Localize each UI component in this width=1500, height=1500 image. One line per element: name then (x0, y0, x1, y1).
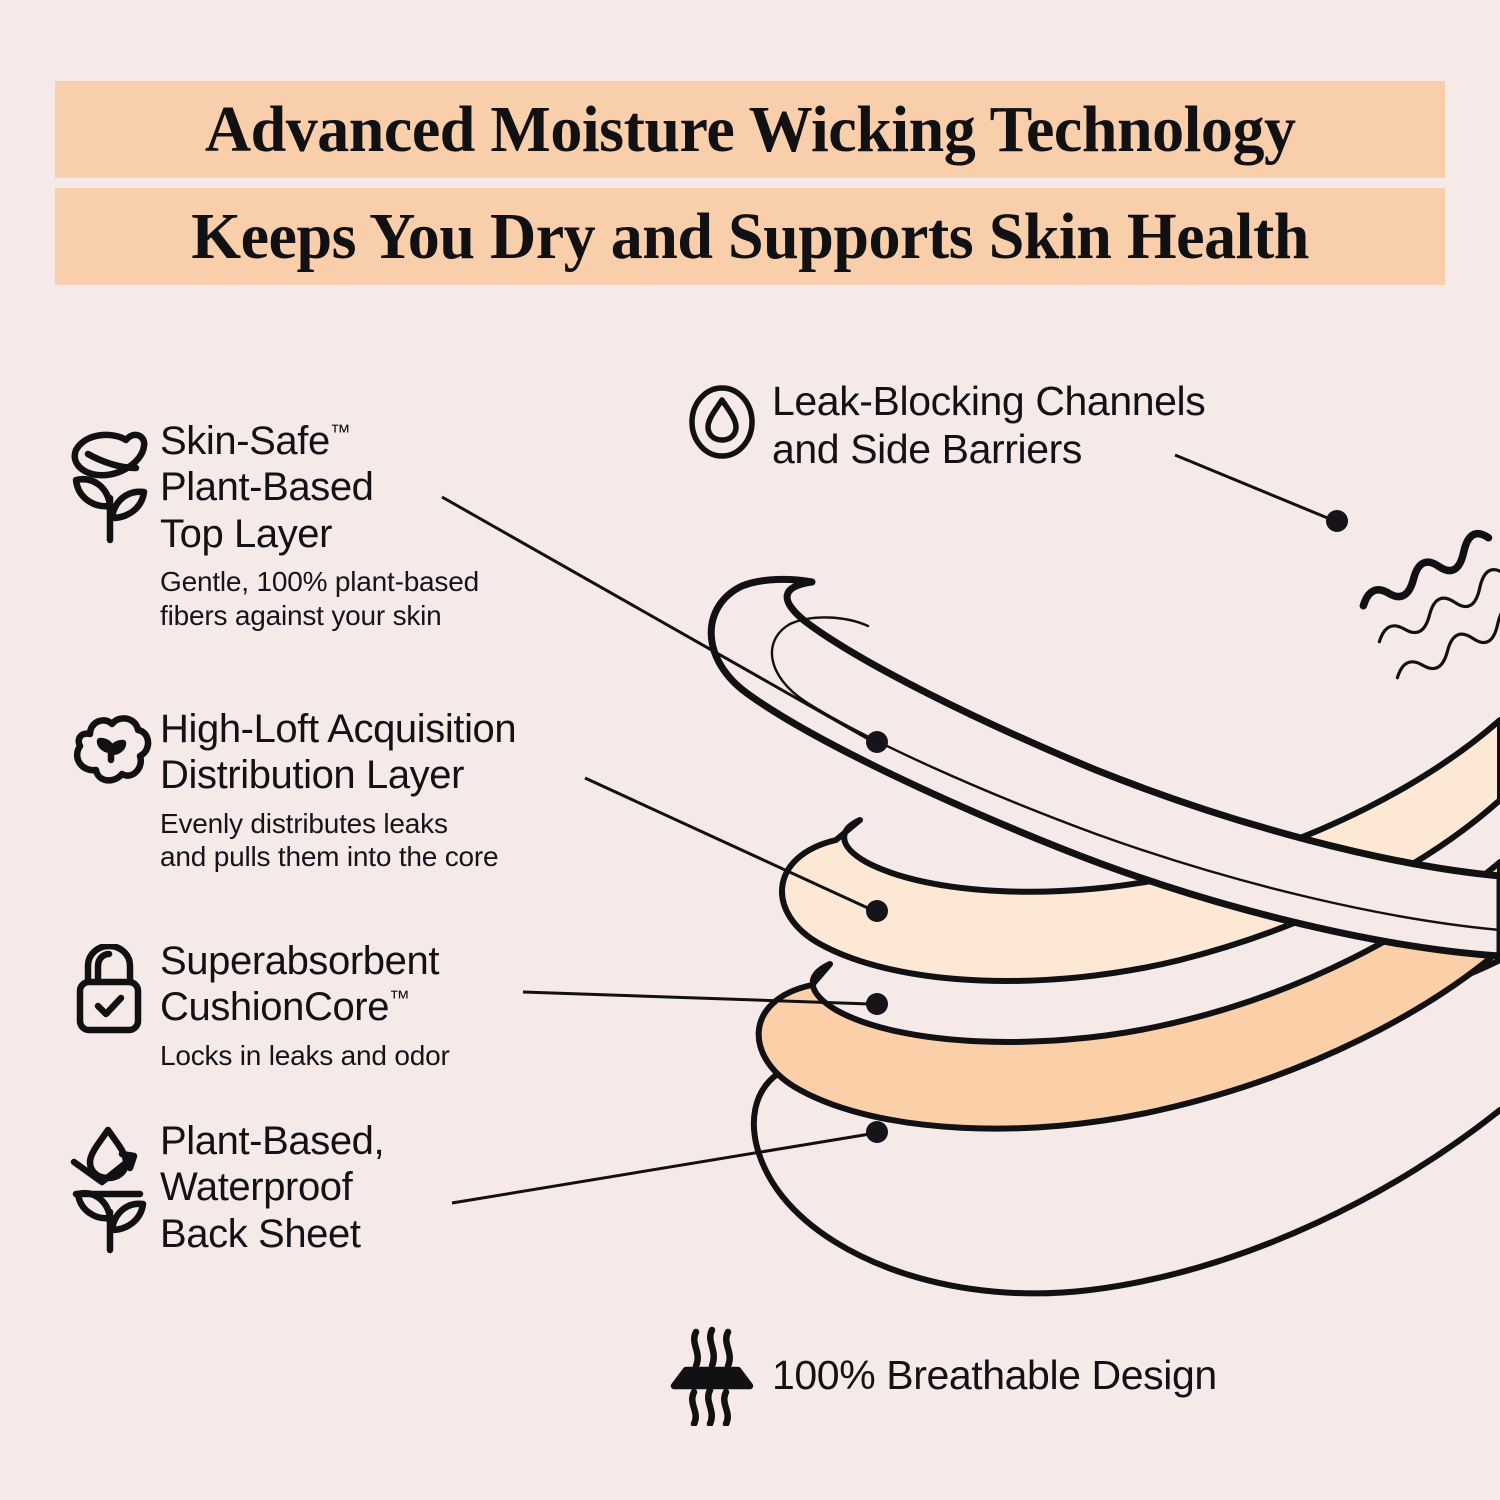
leader-dot-back-sheet (866, 1121, 888, 1143)
feature-breathable-title: 100% Breathable Design (772, 1352, 1364, 1400)
leader-dot-adl (866, 900, 888, 922)
feature-adl: High-Loft Acquisition Distribution Layer… (68, 706, 708, 874)
leader-dot-leak-channels (1326, 510, 1348, 532)
side-barrier-wave-3 (1387, 602, 1500, 680)
leader-dot-core (866, 993, 888, 1015)
droplet-circle-icon (686, 378, 772, 464)
side-barrier-wave-2 (1369, 566, 1500, 644)
cloud-sprout-icon (68, 706, 160, 788)
feature-back-sheet-title: Plant-Based, Waterproof Back Sheet (160, 1118, 668, 1257)
feature-core-title: SuperabsorbentCushionCore™ (160, 938, 688, 1031)
leader-dot-top-layer (866, 731, 888, 753)
feature-adl-title: High-Loft Acquisition Distribution Layer (160, 706, 708, 799)
feature-core: SuperabsorbentCushionCore™ Locks in leak… (68, 938, 688, 1072)
water-repellent-sprout-icon (68, 1118, 160, 1256)
feature-leak-channels-title: Leak-Blocking Channels and Side Barriers (772, 378, 1326, 473)
feature-breathable: 100% Breathable Design (664, 1326, 1364, 1426)
feature-top-layer-subtitle: Gentle, 100% plant-based fibers against … (160, 565, 668, 632)
feature-back-sheet: Plant-Based, Waterproof Back Sheet (68, 1118, 668, 1257)
feature-leak-channels: Leak-Blocking Channels and Side Barriers (686, 378, 1326, 473)
lock-check-icon (68, 938, 160, 1036)
airflow-icon (664, 1326, 772, 1426)
feature-core-subtitle: Locks in leaks and odor (160, 1039, 688, 1073)
feature-top-layer: Skin-Safe™Plant-BasedTop Layer Gentle, 1… (68, 418, 668, 632)
feature-top-layer-title: Skin-Safe™Plant-BasedTop Layer (160, 418, 668, 557)
feature-adl-subtitle: Evenly distributes leaks and pulls them … (160, 807, 708, 874)
leaf-sprout-icon (68, 418, 160, 552)
